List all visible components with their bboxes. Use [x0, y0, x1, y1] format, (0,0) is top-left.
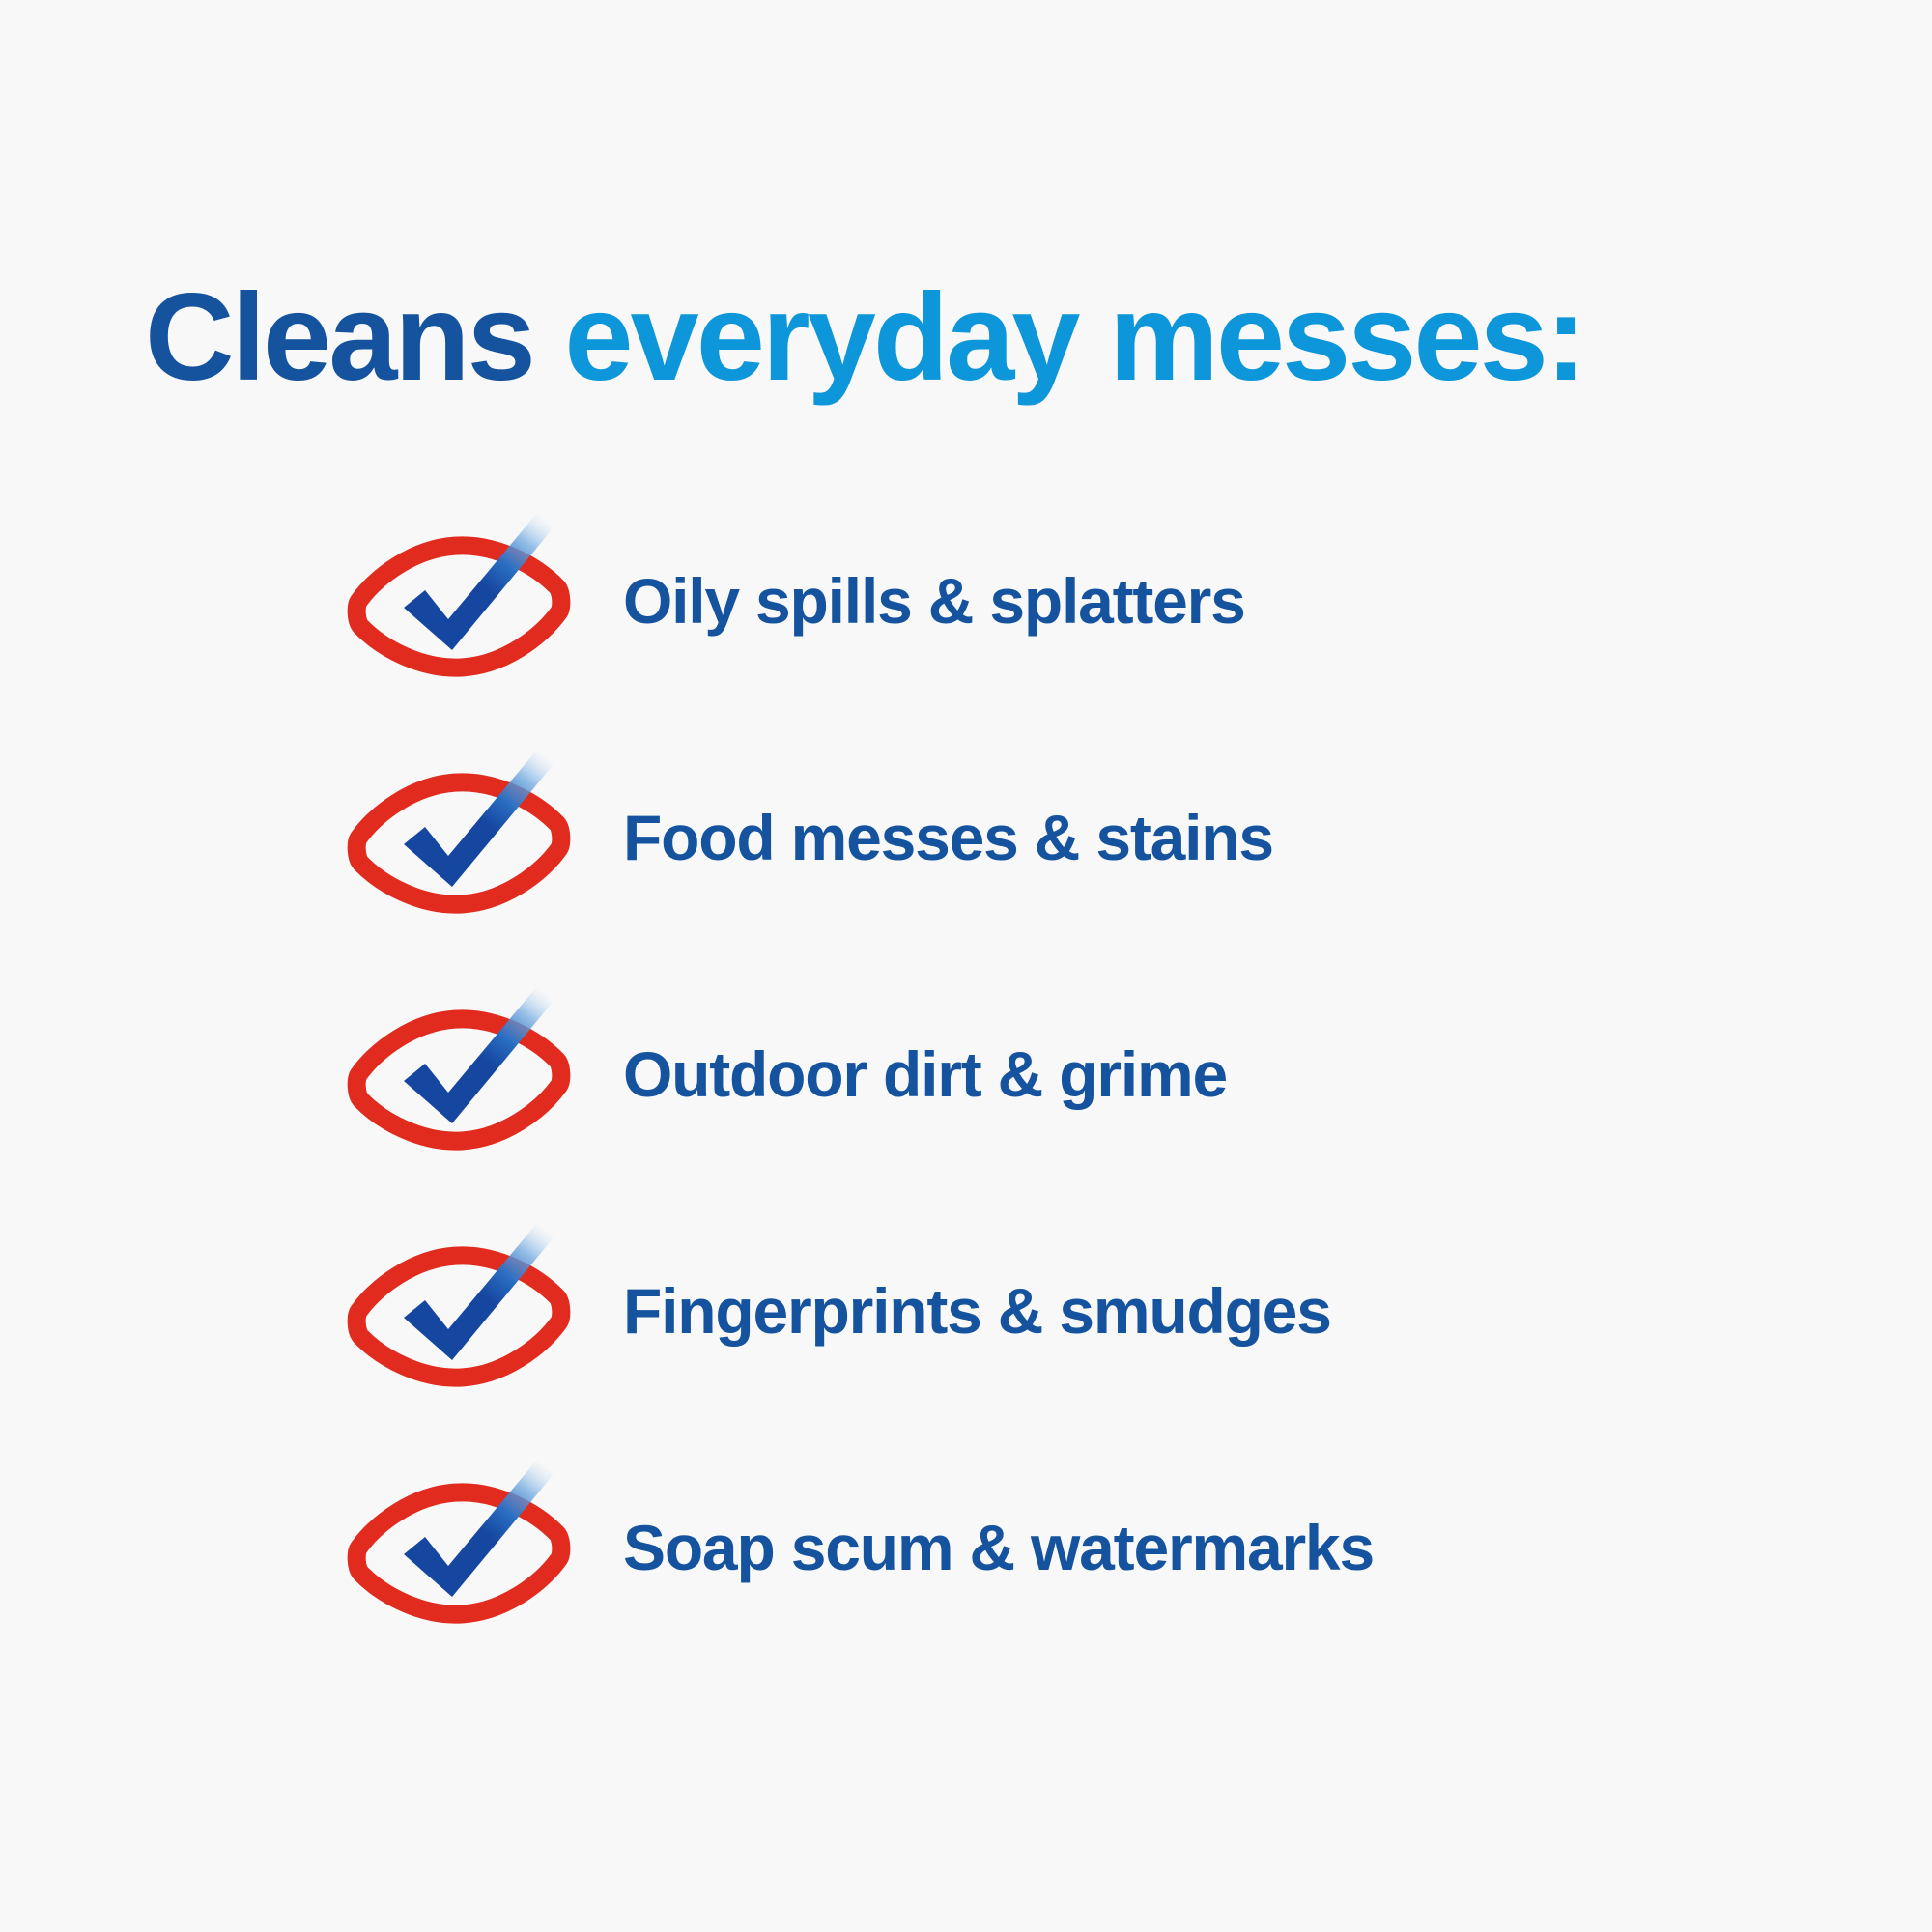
page-title-accent: everyday messes: [564, 269, 1583, 407]
red-lens-blue-check-icon [348, 505, 570, 698]
list-item: Soap scum & watermarks [348, 1430, 1855, 1666]
list-item-label: Outdoor dirt & grime [623, 1041, 1855, 1108]
promo-poster: Cleans everyday messes: [0, 0, 1932, 1932]
red-lens-blue-check-icon [348, 979, 570, 1172]
red-lens-blue-check-icon [348, 1215, 570, 1408]
list-item: Outdoor dirt & grime [348, 956, 1855, 1193]
list-item: Fingerprints & smudges [348, 1193, 1855, 1430]
list-item-label: Soap scum & watermarks [623, 1515, 1855, 1581]
list-item: Food messes & stains [348, 720, 1855, 956]
list-item-label: Fingerprints & smudges [623, 1278, 1855, 1345]
list-item-label: Food messes & stains [623, 805, 1855, 871]
red-lens-blue-check-icon [348, 742, 570, 935]
benefit-list: Oily spills & splatters [348, 483, 1855, 1666]
page-title: Cleans everyday messes: [145, 276, 1845, 400]
red-lens-blue-check-icon [348, 1452, 570, 1645]
list-item: Oily spills & splatters [348, 483, 1855, 720]
list-item-label: Oily spills & splatters [623, 568, 1855, 635]
page-title-primary: Cleans [145, 269, 533, 407]
